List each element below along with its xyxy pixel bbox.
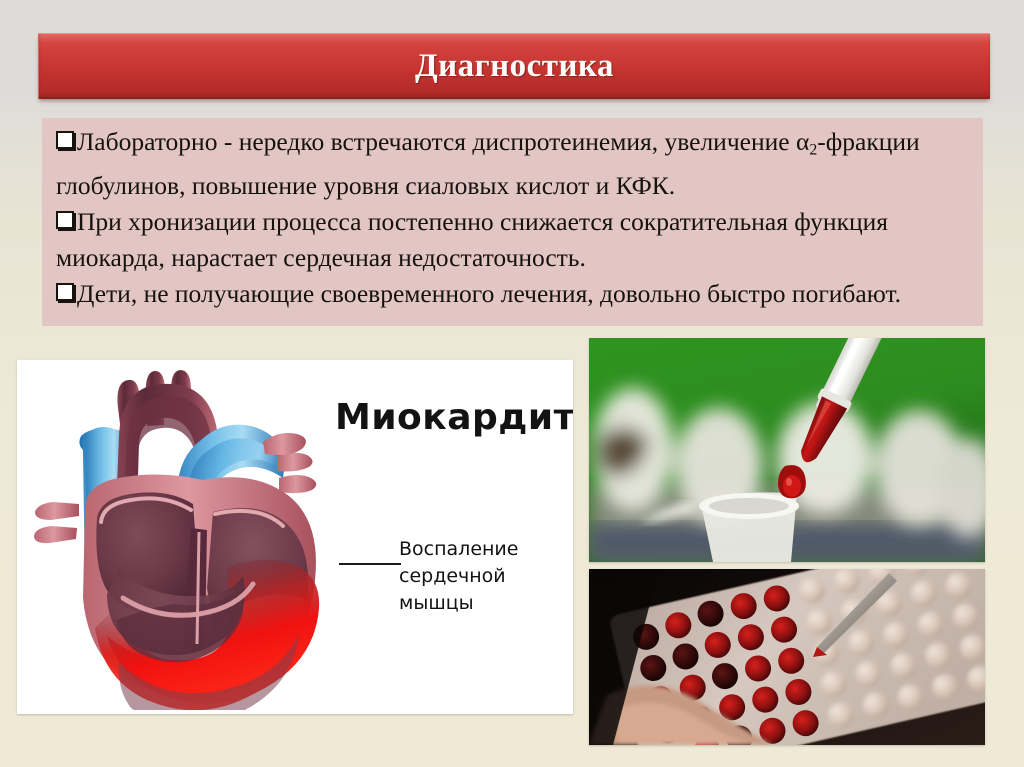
annotation-line-1: Воспаление — [399, 536, 573, 563]
square-bullet-icon — [56, 283, 74, 301]
bullet-3-text: Дети, не получающие своевременного лечен… — [77, 279, 901, 308]
heart-cross-section-illustration — [23, 362, 323, 710]
slide: Диагностика Лабораторно - нередко встреч… — [0, 0, 1024, 767]
bullet-1-text-a: Лабораторно - нередко встречаются диспро… — [77, 127, 809, 156]
annotation-line-2: сердечной мышцы — [399, 563, 573, 617]
microplate-photo-graphic — [589, 569, 985, 745]
bullet-paragraph-2: При хронизации процесса постепенно снижа… — [56, 204, 969, 276]
bullet-2-text: При хронизации процесса постепенно снижа… — [56, 207, 888, 272]
square-bullet-icon — [56, 131, 74, 149]
content-text-panel: Лабораторно - нередко встречаются диспро… — [42, 118, 983, 326]
page-title: Диагностика — [415, 48, 614, 85]
bullet-paragraph-1: Лабораторно - нередко встречаются диспро… — [56, 124, 969, 204]
heart-illustration-card: Миокардит Воспаление сердечной мышцы — [17, 360, 573, 714]
square-bullet-icon — [56, 211, 74, 229]
heart-figure-heading: Миокардит — [335, 397, 573, 438]
bullet-paragraph-3: Дети, не получающие своевременного лечен… — [56, 276, 969, 312]
pipette-blood-drop-photo — [589, 338, 985, 562]
microplate-wells-photo — [589, 569, 985, 745]
heart-figure-annotation: Воспаление сердечной мышцы — [399, 536, 573, 617]
annotation-leader-line — [339, 563, 401, 565]
pipette-photo-graphic — [589, 338, 985, 562]
slide-title-bar: Диагностика — [38, 33, 990, 99]
